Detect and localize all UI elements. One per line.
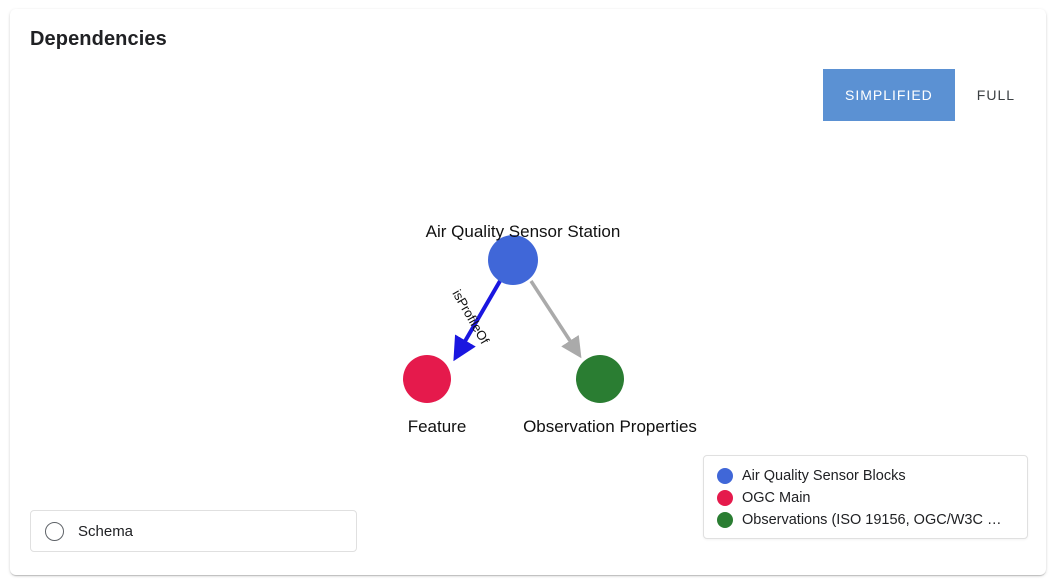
graph-edge-label-isprofileof: isProfileOf [449, 287, 492, 347]
graph-node-label-feature: Feature [408, 417, 467, 437]
graph-node-label-observation-properties: Observation Properties [523, 417, 697, 437]
graph-node-observation-properties [576, 355, 624, 403]
graph-edge-isprofileof [457, 281, 500, 355]
legend-item[interactable]: Observations (ISO 19156, OGC/W3C … [717, 509, 1015, 531]
graph-node-air-quality-sensor-station [488, 235, 538, 285]
legend-item[interactable]: OGC Main [717, 487, 1015, 509]
dependencies-card: Dependencies SIMPLIFIED FULL [10, 9, 1046, 575]
legend-item-label: OGC Main [742, 488, 811, 508]
schema-selector[interactable]: Schema [30, 510, 357, 552]
legend-item[interactable]: Air Quality Sensor Blocks [717, 465, 1015, 487]
legend-color-dot-icon [717, 490, 733, 506]
app-root: Dependencies SIMPLIFIED FULL [0, 0, 1058, 586]
radio-unchecked-icon[interactable] [45, 522, 64, 541]
legend-item-label: Observations (ISO 19156, OGC/W3C … [742, 510, 1001, 530]
graph-node-label-air-quality-sensor-station: Air Quality Sensor Station [426, 222, 621, 242]
tab-full[interactable]: FULL [955, 69, 1037, 121]
page-title: Dependencies [30, 26, 167, 52]
legend-color-dot-icon [717, 512, 733, 528]
graph-edge-unlabeled [531, 281, 578, 353]
legend-color-dot-icon [717, 468, 733, 484]
legend-item-label: Air Quality Sensor Blocks [742, 466, 906, 486]
schema-selector-label: Schema [78, 523, 133, 540]
graph-node-feature [403, 355, 451, 403]
tab-simplified[interactable]: SIMPLIFIED [823, 69, 955, 121]
view-mode-toggle: SIMPLIFIED FULL [823, 69, 1037, 121]
graph-legend: Air Quality Sensor Blocks OGC Main Obser… [703, 455, 1028, 539]
